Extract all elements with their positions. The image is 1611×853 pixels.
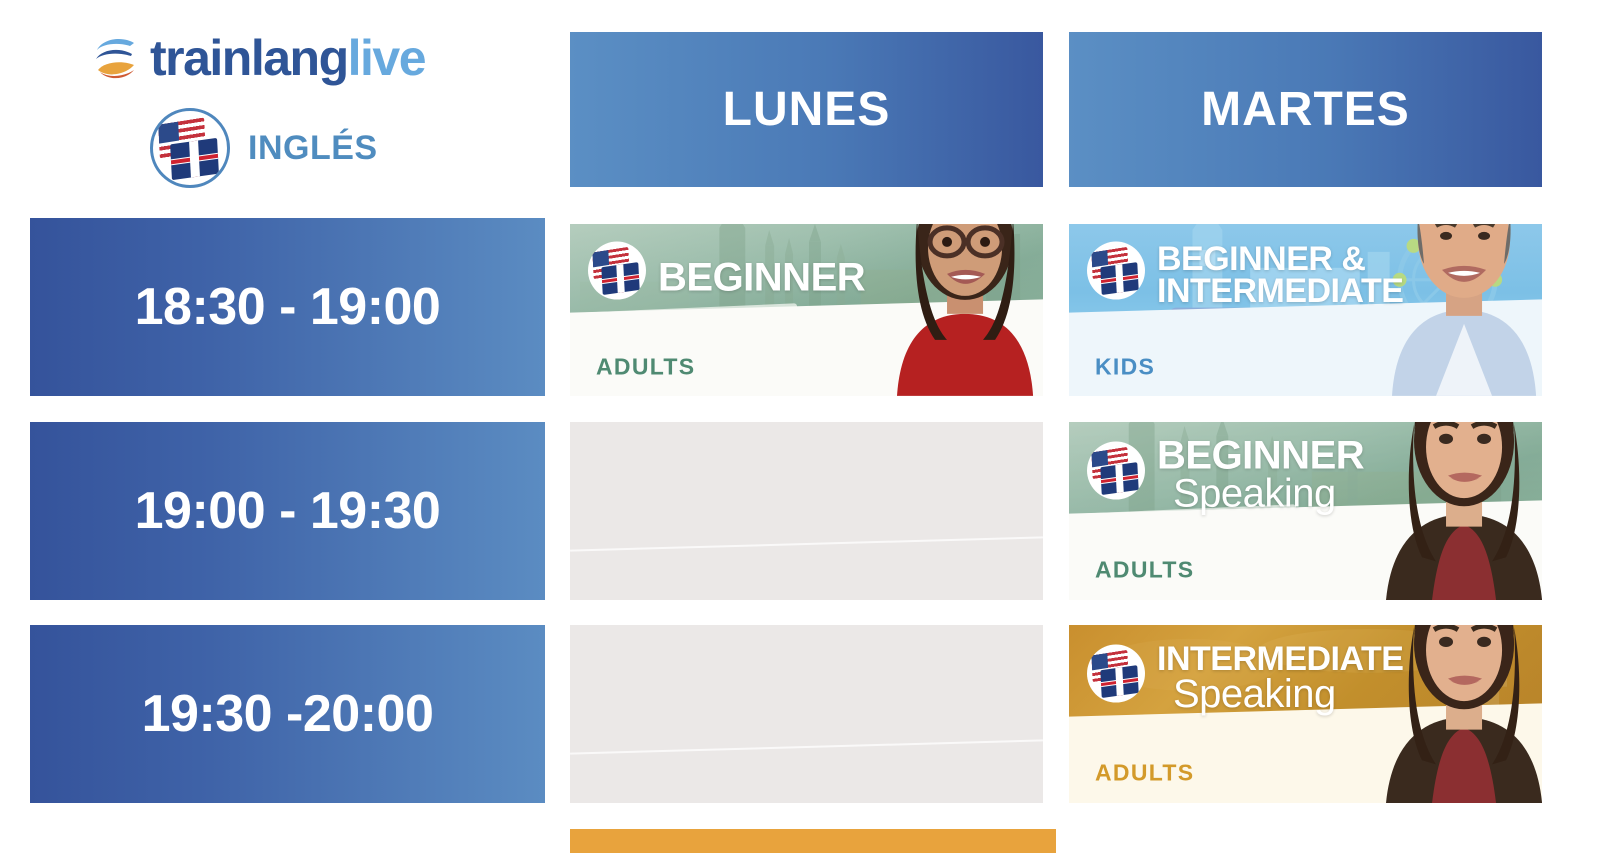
card-title: BEGINNER & INTERMEDIATE (1157, 243, 1403, 308)
day-header-martes[interactable]: MARTES (1069, 32, 1542, 187)
time-slot-label: 19:00 - 19:30 (135, 481, 441, 541)
card-audience-label: ADULTS (1095, 556, 1194, 583)
card-audience-label: KIDS (1095, 353, 1155, 380)
card-title: INTERMEDIATE Speaking (1157, 643, 1403, 714)
us-uk-flag-icon (1087, 241, 1145, 299)
logo: trainlanglive (90, 32, 425, 84)
class-card-martes-slot2[interactable]: BEGINNER Speaking ADULTS (1069, 422, 1542, 600)
teacher-photo (1386, 625, 1542, 803)
course-card: BEGINNER ADULTS (570, 224, 1043, 396)
course-card: BEGINNER & INTERMEDIATE KIDS (1069, 224, 1542, 396)
class-card-martes-slot1[interactable]: BEGINNER & INTERMEDIATE KIDS (1069, 224, 1542, 396)
card-title-level: BEGINNER (658, 258, 865, 296)
time-slot-2: 19:00 - 19:30 (30, 422, 545, 600)
empty-slot-lunes-slot3 (570, 625, 1043, 803)
brand-block: trainlanglive INGLÉS (30, 0, 545, 205)
teacher-photo (887, 224, 1043, 396)
card-title-level: INTERMEDIATE (1157, 643, 1403, 676)
card-title-skill: Speaking (1173, 475, 1364, 513)
empty-slot-lunes-slot2 (570, 422, 1043, 600)
time-slot-1: 18:30 - 19:00 (30, 218, 545, 396)
day-header-lunes[interactable]: LUNES (570, 32, 1043, 187)
card-audience-label: ADULTS (596, 353, 695, 380)
card-title: BEGINNER (658, 258, 865, 296)
schedule-page: trainlanglive INGLÉS LUNES MARTES 18:30 … (0, 0, 1611, 853)
class-card-lunes-slot4-partial[interactable] (570, 829, 1056, 853)
day-header-label: LUNES (723, 82, 891, 137)
us-uk-flag-icon (1087, 644, 1145, 702)
time-slot-3: 19:30 -20:00 (30, 625, 545, 803)
class-card-martes-slot3[interactable]: INTERMEDIATE Speaking ADULTS (1069, 625, 1542, 803)
card-title-level-2: INTERMEDIATE (1157, 276, 1403, 309)
card-title: BEGINNER Speaking (1157, 436, 1364, 513)
card-title-skill: Speaking (1173, 675, 1403, 713)
time-slot-label: 18:30 - 19:00 (135, 277, 441, 337)
card-title-level: BEGINNER & (1157, 243, 1403, 276)
logo-text-primary: trainlang (150, 30, 348, 86)
language-label: INGLÉS (248, 129, 378, 168)
teacher-photo (1386, 224, 1542, 396)
us-uk-flag-icon (588, 241, 646, 299)
logo-wordmark: trainlanglive (150, 33, 425, 83)
card-audience-label: ADULTS (1095, 759, 1194, 786)
day-header-label: MARTES (1201, 82, 1410, 137)
course-card: INTERMEDIATE Speaking ADULTS (1069, 625, 1542, 803)
language-row: INGLÉS (150, 108, 378, 188)
us-uk-flag-icon (150, 108, 230, 188)
teacher-photo (1386, 422, 1542, 600)
swoosh-icon (90, 32, 142, 84)
us-uk-flag-icon (1087, 441, 1145, 499)
time-slot-label: 19:30 -20:00 (142, 684, 434, 744)
logo-text-secondary: live (348, 30, 425, 86)
course-card: BEGINNER Speaking ADULTS (1069, 422, 1542, 600)
class-card-lunes-slot1[interactable]: BEGINNER ADULTS (570, 224, 1043, 396)
card-title-level: BEGINNER (1157, 436, 1364, 474)
